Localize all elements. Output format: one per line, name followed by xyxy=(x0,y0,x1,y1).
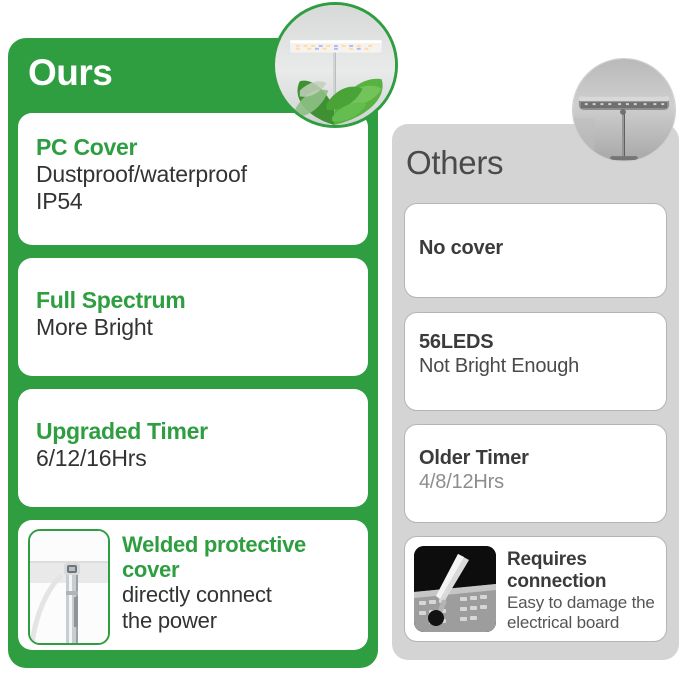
ours-feature-card-welded-cover: Welded protectivecover directly connectt… xyxy=(18,520,368,650)
others-card-4-title: Requiresconnection xyxy=(507,549,655,593)
grayscale-led-light-photo xyxy=(572,58,676,162)
ours-card-2-subtitle: More Bright xyxy=(36,314,352,341)
cable-connector-illustration xyxy=(414,546,496,632)
ours-panel-title: Ours xyxy=(28,54,112,91)
others-feature-card-56leds: 56LEDS Not Bright Enough xyxy=(404,312,667,411)
ours-card-1-title: PC Cover xyxy=(36,135,352,161)
welded-pole-illustration xyxy=(30,531,108,643)
ours-card-1-subtitle: Dustproof/waterproofIP54 xyxy=(36,161,352,215)
led-grow-light-over-green-plants-photo xyxy=(272,2,398,128)
others-circle-illustration xyxy=(573,59,675,161)
comparison-infographic: Ours PC Cover Dustproof/waterproofIP54 F… xyxy=(0,0,679,680)
ours-card-4-title: Welded protectivecover xyxy=(122,533,306,582)
ours-card-2-title: Full Spectrum xyxy=(36,288,352,314)
ours-card-3-title: Upgraded Timer xyxy=(36,419,352,445)
cable-connector-on-circuit-board-photo xyxy=(414,546,496,632)
ours-feature-card-full-spectrum: Full Spectrum More Bright xyxy=(18,258,368,376)
ours-card-4-subtitle: directly connectthe power xyxy=(122,582,306,634)
welded-pole-connector-photo xyxy=(28,529,110,645)
others-panel-title: Others xyxy=(406,146,503,179)
others-card-4-subtitle: Easy to damage theelectrical board xyxy=(507,593,655,634)
others-card-2-title: 56LEDS xyxy=(419,331,654,354)
others-card-3-title: Older Timer xyxy=(419,447,654,470)
others-card-3-subtitle: 4/8/12Hrs xyxy=(419,470,654,494)
others-panel: Others No cover 56LEDS Not Bright Enough… xyxy=(392,124,679,660)
ours-feature-card-upgraded-timer: Upgraded Timer 6/12/16Hrs xyxy=(18,389,368,507)
ours-circle-illustration xyxy=(275,5,395,125)
ours-feature-card-pc-cover: PC Cover Dustproof/waterproofIP54 xyxy=(18,113,368,245)
others-feature-card-older-timer: Older Timer 4/8/12Hrs xyxy=(404,424,667,523)
ours-card-3-subtitle: 6/12/16Hrs xyxy=(36,445,352,472)
ours-panel: Ours PC Cover Dustproof/waterproofIP54 F… xyxy=(8,38,378,668)
others-card-1-title: No cover xyxy=(419,237,654,260)
others-card-2-subtitle: Not Bright Enough xyxy=(419,354,654,378)
others-feature-card-no-cover: No cover xyxy=(404,203,667,298)
others-feature-card-requires-connection: Requiresconnection Easy to damage theele… xyxy=(404,536,667,642)
